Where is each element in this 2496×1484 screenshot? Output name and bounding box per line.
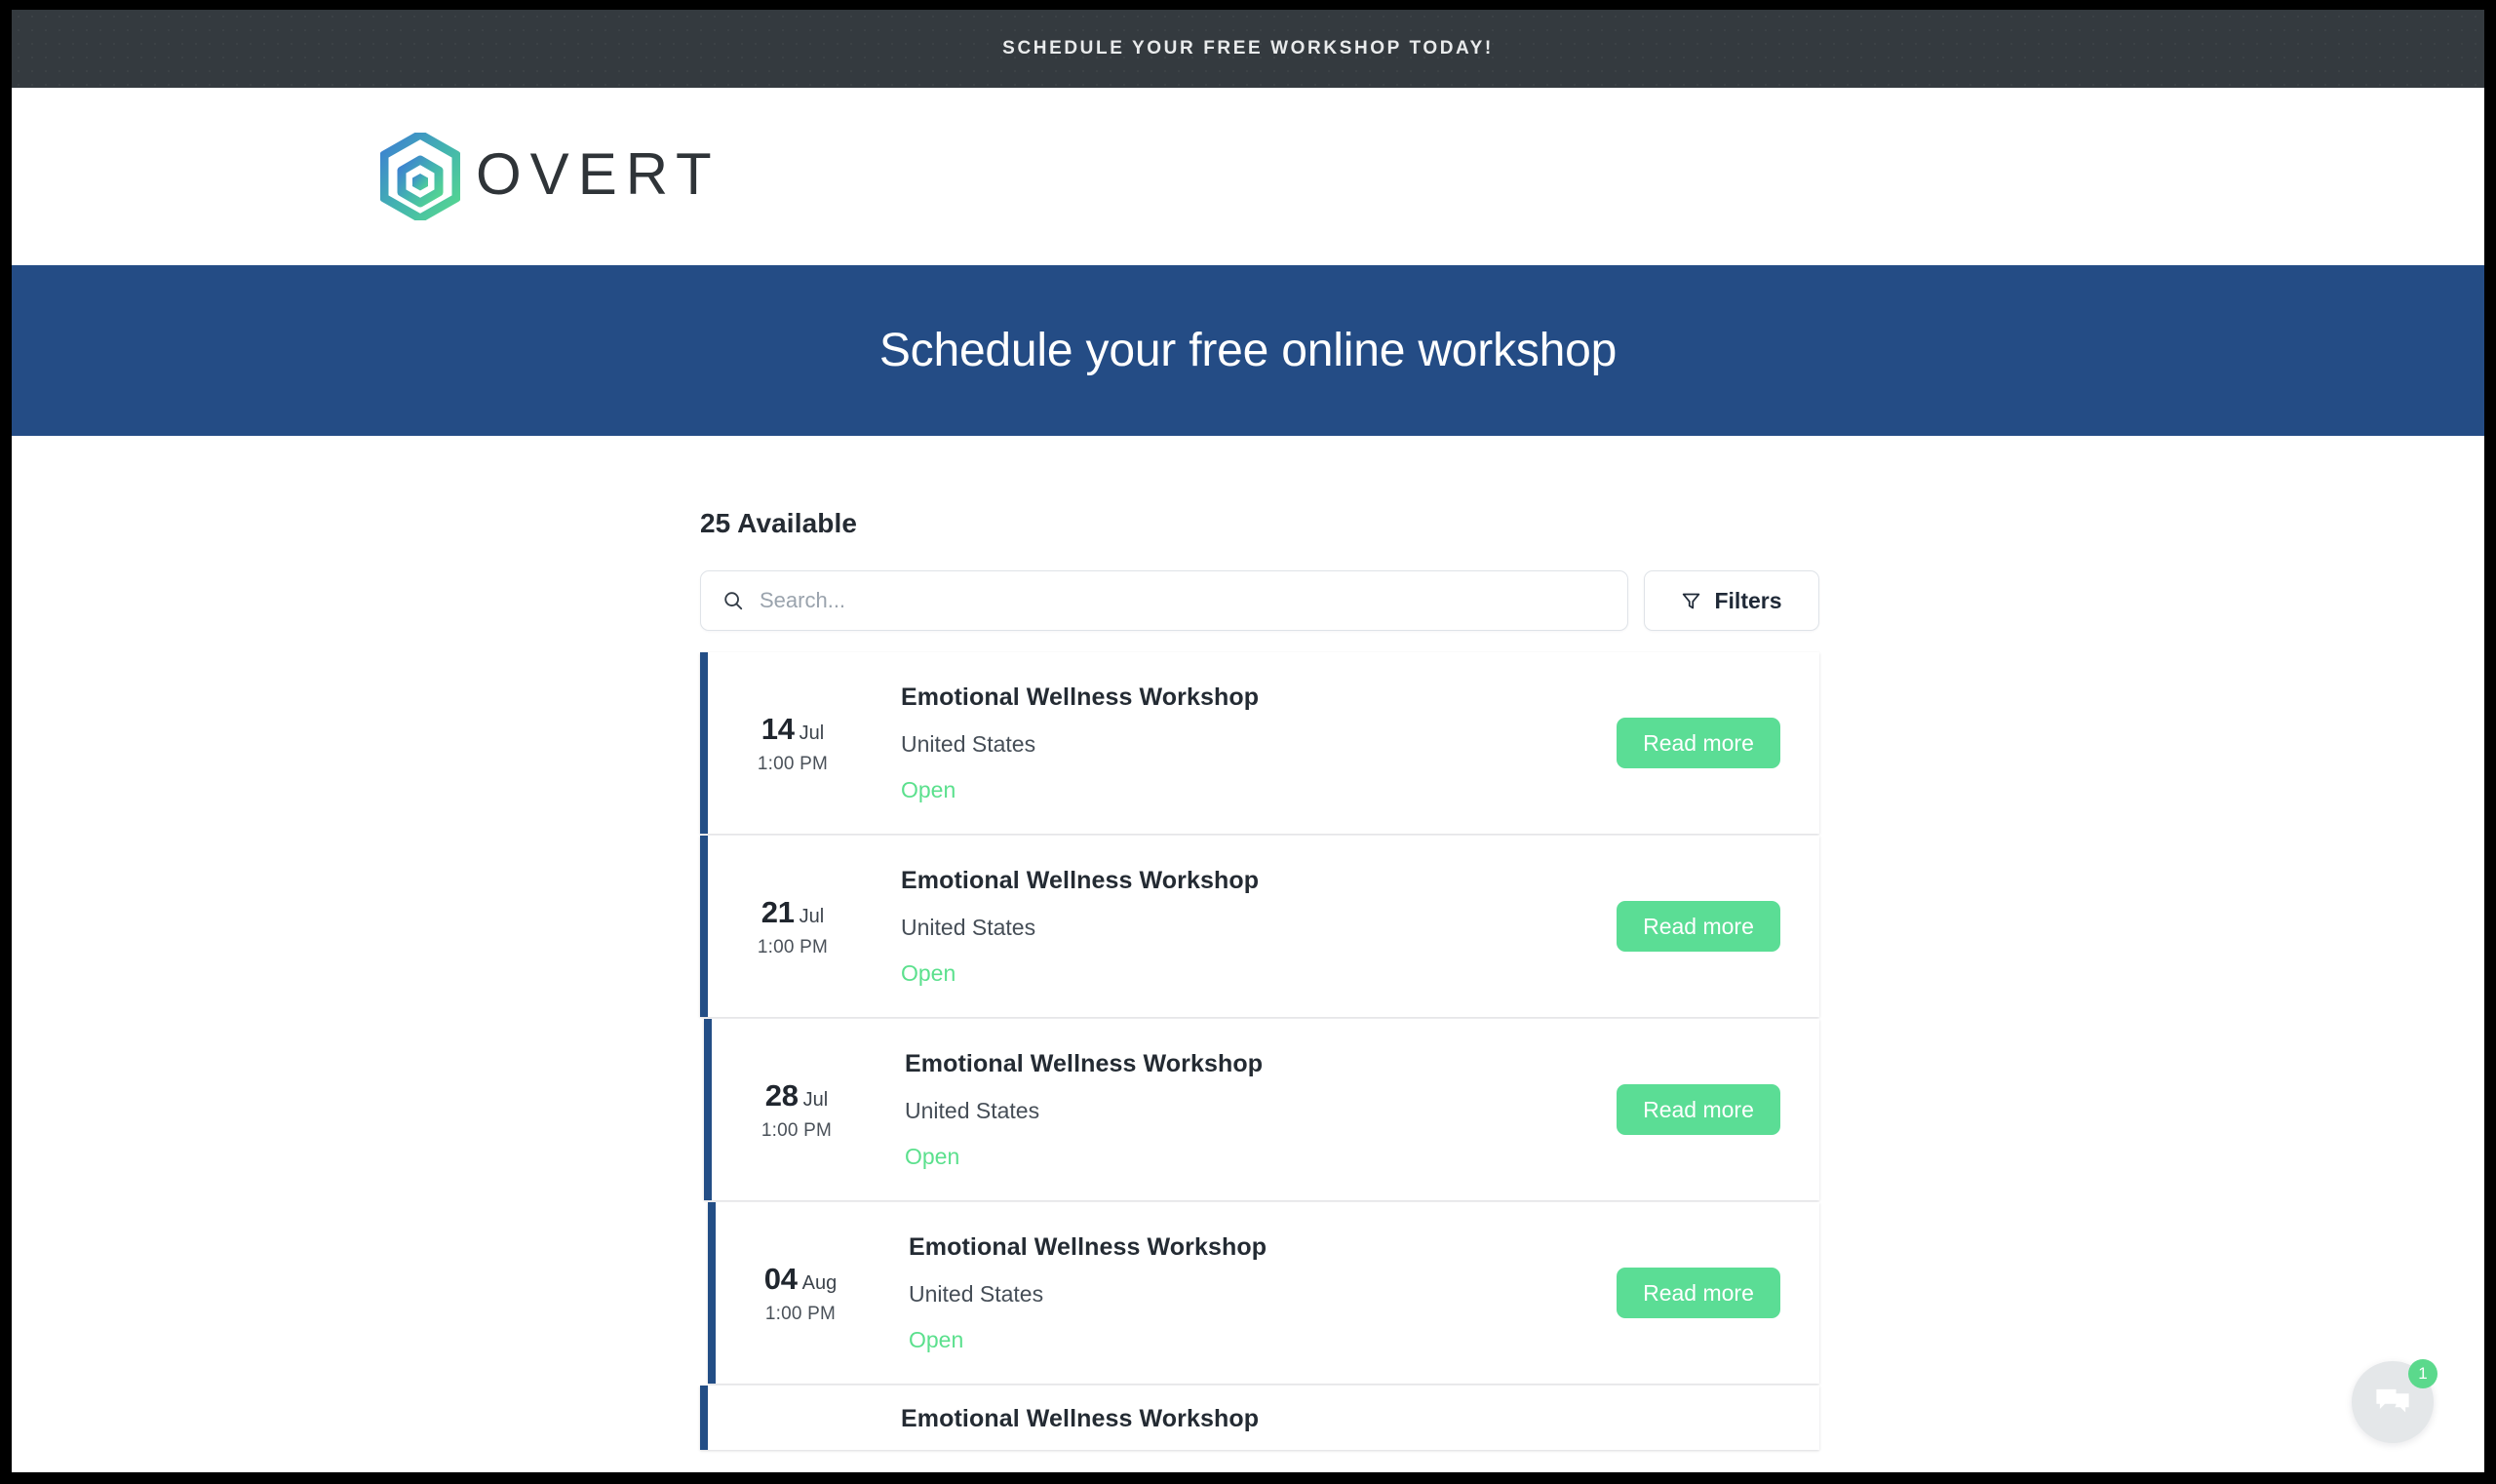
main-content: 25 Available	[12, 436, 2484, 1452]
site-header: OVERT	[12, 88, 2484, 265]
event-card[interactable]: 28Jul 1:00 PM Emotional Wellness Worksho…	[704, 1019, 1819, 1200]
event-location: United States	[905, 1098, 1617, 1124]
event-details: Emotional Wellness Workshop United State…	[858, 1233, 1617, 1353]
status-badge: Open	[909, 1327, 1617, 1353]
filter-funnel-icon	[1681, 591, 1701, 611]
event-details: Emotional Wellness Workshop United State…	[854, 1050, 1617, 1170]
event-date: 21Jul 1:00 PM	[735, 895, 850, 958]
event-details: Emotional Wellness Workshop	[850, 1386, 1780, 1433]
event-title: Emotional Wellness Workshop	[905, 1050, 1617, 1078]
announcement-bar: SCHEDULE YOUR FREE WORKSHOP TODAY!	[12, 10, 2484, 88]
filters-label: Filters	[1714, 588, 1781, 614]
read-more-button[interactable]: Read more	[1617, 901, 1780, 952]
event-month: Jul	[799, 906, 825, 927]
announcement-text: SCHEDULE YOUR FREE WORKSHOP TODAY!	[1002, 38, 1494, 59]
event-day: 14	[761, 712, 795, 746]
search-box[interactable]	[700, 570, 1628, 631]
screen-frame: SCHEDULE YOUR FREE WORKSHOP TODAY!	[0, 0, 2496, 1484]
event-date-line: 04Aug	[743, 1262, 858, 1297]
event-day: 28	[765, 1078, 799, 1113]
search-input[interactable]	[760, 588, 1606, 613]
event-title: Emotional Wellness Workshop	[901, 683, 1617, 712]
event-title: Emotional Wellness Workshop	[909, 1233, 1617, 1262]
hero-banner: Schedule your free online workshop	[12, 265, 2484, 436]
chat-widget: 1	[2352, 1361, 2434, 1443]
read-more-button[interactable]: Read more	[1617, 1268, 1780, 1318]
event-day: 04	[764, 1262, 798, 1296]
status-badge: Open	[905, 1144, 1617, 1170]
event-date-line: 14Jul	[735, 712, 850, 747]
event-card-list: 14Jul 1:00 PM Emotional Wellness Worksho…	[700, 652, 1819, 1452]
event-card[interactable]: 21Jul 1:00 PM Emotional Wellness Worksho…	[700, 836, 1819, 1017]
read-more-button[interactable]: Read more	[1617, 1084, 1780, 1135]
event-card[interactable]: Emotional Wellness Workshop	[700, 1386, 1819, 1450]
event-location: United States	[901, 915, 1617, 941]
event-date: 14Jul 1:00 PM	[735, 712, 850, 775]
event-location: United States	[909, 1281, 1617, 1308]
search-icon	[722, 590, 744, 611]
event-date-line: 28Jul	[739, 1078, 854, 1113]
event-month: Jul	[799, 722, 825, 744]
event-card[interactable]: 04Aug 1:00 PM Emotional Wellness Worksho…	[708, 1202, 1819, 1384]
event-month: Jul	[803, 1089, 829, 1111]
read-more-button[interactable]: Read more	[1617, 718, 1780, 768]
event-time: 1:00 PM	[735, 937, 850, 958]
event-day: 21	[761, 895, 795, 929]
hexagon-logo-icon	[380, 133, 460, 220]
status-badge: Open	[901, 777, 1617, 803]
event-time: 1:00 PM	[735, 754, 850, 775]
page-root: SCHEDULE YOUR FREE WORKSHOP TODAY!	[12, 10, 2484, 1472]
event-month: Aug	[802, 1272, 838, 1294]
filters-button[interactable]: Filters	[1644, 570, 1819, 631]
chat-unread-badge: 1	[2408, 1359, 2437, 1388]
chat-bubbles-icon	[2372, 1382, 2413, 1423]
event-card[interactable]: 14Jul 1:00 PM Emotional Wellness Worksho…	[700, 652, 1819, 834]
brand-logo-link[interactable]: OVERT	[380, 133, 721, 220]
event-title: Emotional Wellness Workshop	[901, 1405, 1780, 1433]
status-badge: Open	[901, 960, 1617, 987]
available-count-heading: 25 Available	[700, 508, 1819, 539]
event-date: 28Jul 1:00 PM	[739, 1078, 854, 1142]
event-details: Emotional Wellness Workshop United State…	[850, 683, 1617, 803]
event-details: Emotional Wellness Workshop United State…	[850, 867, 1617, 987]
content-container: 25 Available	[700, 508, 1819, 1452]
event-date: 04Aug 1:00 PM	[743, 1262, 858, 1325]
event-time: 1:00 PM	[743, 1304, 858, 1325]
search-filter-row: Filters	[700, 570, 1819, 631]
brand-name: OVERT	[476, 145, 721, 208]
event-time: 1:00 PM	[739, 1120, 854, 1142]
event-title: Emotional Wellness Workshop	[901, 867, 1617, 895]
event-date-line: 21Jul	[735, 895, 850, 930]
hero-title: Schedule your free online workshop	[879, 324, 1617, 377]
event-location: United States	[901, 731, 1617, 758]
